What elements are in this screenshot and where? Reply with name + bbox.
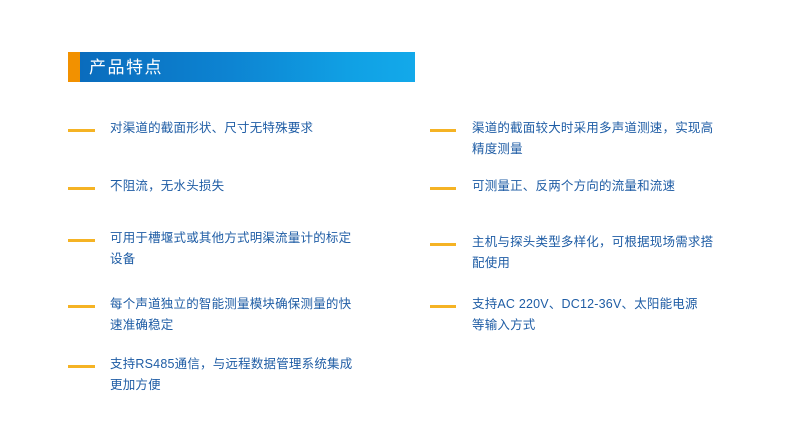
list-item: 主机与探头类型多样化，可根据现场需求搭 配使用 (430, 232, 750, 274)
list-item: 可用于槽堰式或其他方式明渠流量计的标定 设备 (68, 228, 388, 270)
dash-bullet-icon (68, 305, 95, 308)
dash-bullet-icon (68, 129, 95, 132)
list-item-label: 可测量正、反两个方向的流量和流速 (472, 176, 750, 197)
list-item: 渠道的截面较大时采用多声道测速，实现高 精度测量 (430, 118, 750, 160)
list-item-label: 每个声道独立的智能测量模块确保测量的快 速准确稳定 (110, 294, 388, 336)
header-gradient-bar: 产品特点 (80, 52, 415, 82)
dash-bullet-icon (430, 305, 456, 308)
list-item-label: 主机与探头类型多样化，可根据现场需求搭 配使用 (472, 232, 750, 274)
list-item: 每个声道独立的智能测量模块确保测量的快 速准确稳定 (68, 294, 388, 336)
list-item-label: 对渠道的截面形状、尺寸无特殊要求 (110, 118, 388, 139)
header-accent-bar (68, 52, 80, 82)
list-item-label: 不阻流，无水头损失 (110, 176, 388, 197)
section-header-banner: 产品特点 (68, 52, 415, 82)
dash-bullet-icon (430, 129, 456, 132)
dash-bullet-icon (430, 187, 456, 190)
page-title: 产品特点 (80, 59, 163, 76)
list-item-label: 支持AC 220V、DC12-36V、太阳能电源 等输入方式 (472, 294, 750, 336)
dash-bullet-icon (68, 239, 95, 242)
list-item: 支持AC 220V、DC12-36V、太阳能电源 等输入方式 (430, 294, 750, 336)
list-item: 对渠道的截面形状、尺寸无特殊要求 (68, 118, 388, 139)
list-item-label: 渠道的截面较大时采用多声道测速，实现高 精度测量 (472, 118, 750, 160)
feature-list: 对渠道的截面形状、尺寸无特殊要求 不阻流，无水头损失 可用于槽堰式或其他方式明渠… (0, 108, 800, 408)
list-item-label: 支持RS485通信，与远程数据管理系统集成 更加方便 (110, 354, 388, 396)
list-item-label: 可用于槽堰式或其他方式明渠流量计的标定 设备 (110, 228, 388, 270)
list-item: 可测量正、反两个方向的流量和流速 (430, 176, 750, 197)
dash-bullet-icon (68, 365, 95, 368)
dash-bullet-icon (68, 187, 95, 190)
dash-bullet-icon (430, 243, 456, 246)
list-item: 不阻流，无水头损失 (68, 176, 388, 197)
list-item: 支持RS485通信，与远程数据管理系统集成 更加方便 (68, 354, 388, 396)
